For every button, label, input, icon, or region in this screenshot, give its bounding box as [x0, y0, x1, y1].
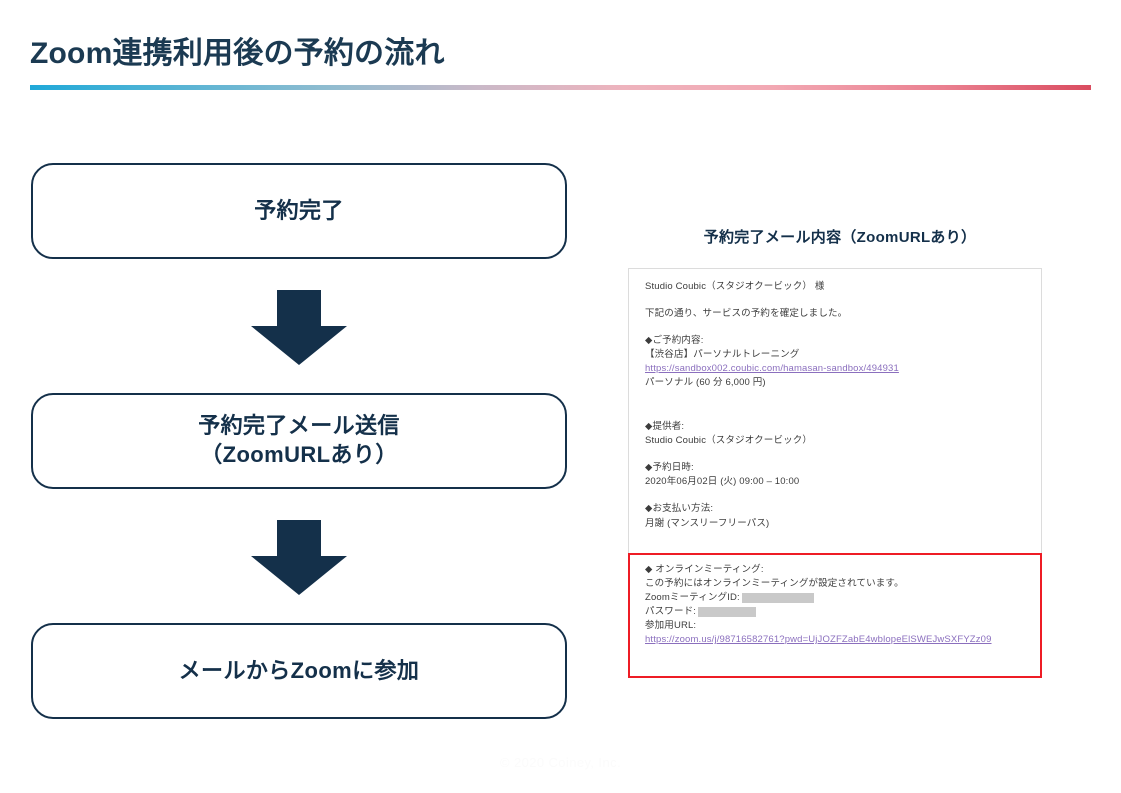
- online-meeting-heading: ◆ オンラインミーティング:: [645, 563, 1037, 577]
- flow-step-box-1: 予約完了: [31, 163, 567, 259]
- online-meeting-section: ◆ オンラインミーティング: この予約にはオンラインミーティングが設定されていま…: [645, 563, 1037, 647]
- arrow-down-icon: [249, 290, 349, 365]
- arrow-down-icon: [249, 520, 349, 595]
- flow-step-label-2: 予約完了メール送信 （ZoomURLあり）: [198, 412, 400, 469]
- email-reservation-heading: ◆ご予約内容:: [645, 334, 1045, 348]
- flow-step-label-2-line1: 予約完了メール送信: [198, 413, 400, 438]
- title-gradient-divider: [30, 85, 1091, 90]
- flow-step-label-3-line1: メールからZoomに参加: [179, 658, 420, 683]
- meeting-password-redaction-bar: [698, 607, 756, 617]
- flow-step-box-2: 予約完了メール送信 （ZoomURLあり）: [31, 393, 567, 489]
- meeting-id-redaction-bar: [742, 593, 814, 603]
- meeting-id-row: ZoomミーティングID:: [645, 591, 1037, 605]
- slide-canvas: Zoom連携利用後の予約の流れ 予約完了 予約完了メール送信 （ZoomURLあ…: [0, 0, 1121, 793]
- email-payment-heading: ◆お支払い方法:: [645, 502, 1045, 516]
- email-preview-caption: 予約完了メール内容（ZoomURLあり）: [628, 226, 1052, 247]
- spacer: [645, 448, 1045, 461]
- spacer: [645, 489, 1045, 502]
- footer-copyright: © 2020 Coiney, Inc.: [0, 755, 1121, 770]
- email-reservation-link[interactable]: https://sandbox002.coubic.com/hamasan-sa…: [645, 363, 899, 374]
- flow-step-label-2-line2: （ZoomURLあり）: [198, 441, 400, 470]
- meeting-id-label: ZoomミーティングID:: [645, 591, 740, 605]
- spacer: [645, 294, 1045, 307]
- meeting-password-label: パスワード:: [645, 605, 696, 619]
- email-preview-body: Studio Coubic（スタジオクービック） 様 下記の通り、サービスの予約…: [645, 280, 1045, 531]
- email-provider-heading: ◆提供者:: [645, 420, 1045, 434]
- flow-step-label-1-line1: 予約完了: [254, 198, 344, 223]
- spacer: [645, 390, 1045, 420]
- flow-step-label-3: メールからZoomに参加: [179, 657, 420, 686]
- email-provider-name: Studio Coubic（スタジオクービック）: [645, 434, 1045, 448]
- join-url-link[interactable]: https://zoom.us/j/98716582761?pwd=UjJOZF…: [645, 634, 992, 645]
- meeting-password-row: パスワード:: [645, 605, 1037, 619]
- spacer: [645, 321, 1045, 334]
- email-payment-value: 月謝 (マンスリーフリーパス): [645, 517, 1045, 531]
- email-greeting: Studio Coubic（スタジオクービック） 様: [645, 280, 1045, 294]
- email-reservation-plan: パーソナル (60 分 6,000 円): [645, 376, 1045, 390]
- page-title: Zoom連携利用後の予約の流れ: [30, 28, 445, 72]
- flow-step-label-1: 予約完了: [254, 197, 344, 226]
- email-datetime-heading: ◆予約日時:: [645, 461, 1045, 475]
- email-intro: 下記の通り、サービスの予約を確定しました。: [645, 307, 1045, 321]
- email-reservation-service: 【渋谷店】パーソナルトレーニング: [645, 348, 1045, 362]
- email-datetime-value: 2020年06月02日 (火) 09:00 – 10:00: [645, 475, 1045, 489]
- flow-step-box-3: メールからZoomに参加: [31, 623, 567, 719]
- online-meeting-description: この予約にはオンラインミーティングが設定されています。: [645, 577, 1037, 591]
- join-url-label: 参加用URL:: [645, 619, 1037, 633]
